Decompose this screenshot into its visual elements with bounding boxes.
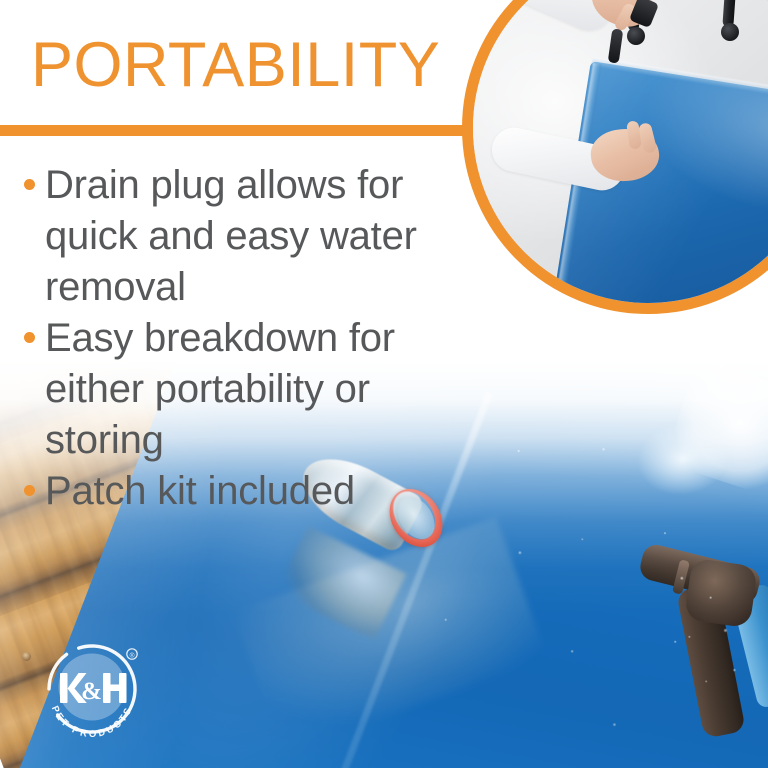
- bullet-dot-icon: [24, 332, 35, 343]
- list-item: Drain plug allows for quick and easy wat…: [24, 160, 494, 313]
- list-item-label: Easy breakdown for either portability or…: [45, 313, 494, 466]
- svg-text:&: &: [81, 678, 102, 705]
- product-feature-card: PORTABILITY Drain plug allows for quick …: [0, 0, 768, 768]
- list-item: Patch kit included: [24, 466, 494, 517]
- brand-logo: & ® PET PRODUCTS: [33, 632, 151, 750]
- bullet-dot-icon: [24, 485, 35, 496]
- list-item-label: Drain plug allows for quick and easy wat…: [45, 160, 494, 313]
- svg-text:®: ®: [130, 651, 135, 659]
- list-item-label: Patch kit included: [45, 466, 494, 517]
- title-divider: [0, 125, 472, 136]
- inset-photo-circle: [462, 0, 768, 314]
- feature-list: Drain plug allows for quick and easy wat…: [24, 160, 494, 517]
- list-item: Easy breakdown for either portability or…: [24, 313, 494, 466]
- bullet-dot-icon: [24, 179, 35, 190]
- kh-pet-products-logo-icon: & ® PET PRODUCTS: [33, 632, 151, 750]
- page-title: PORTABILITY: [31, 34, 440, 97]
